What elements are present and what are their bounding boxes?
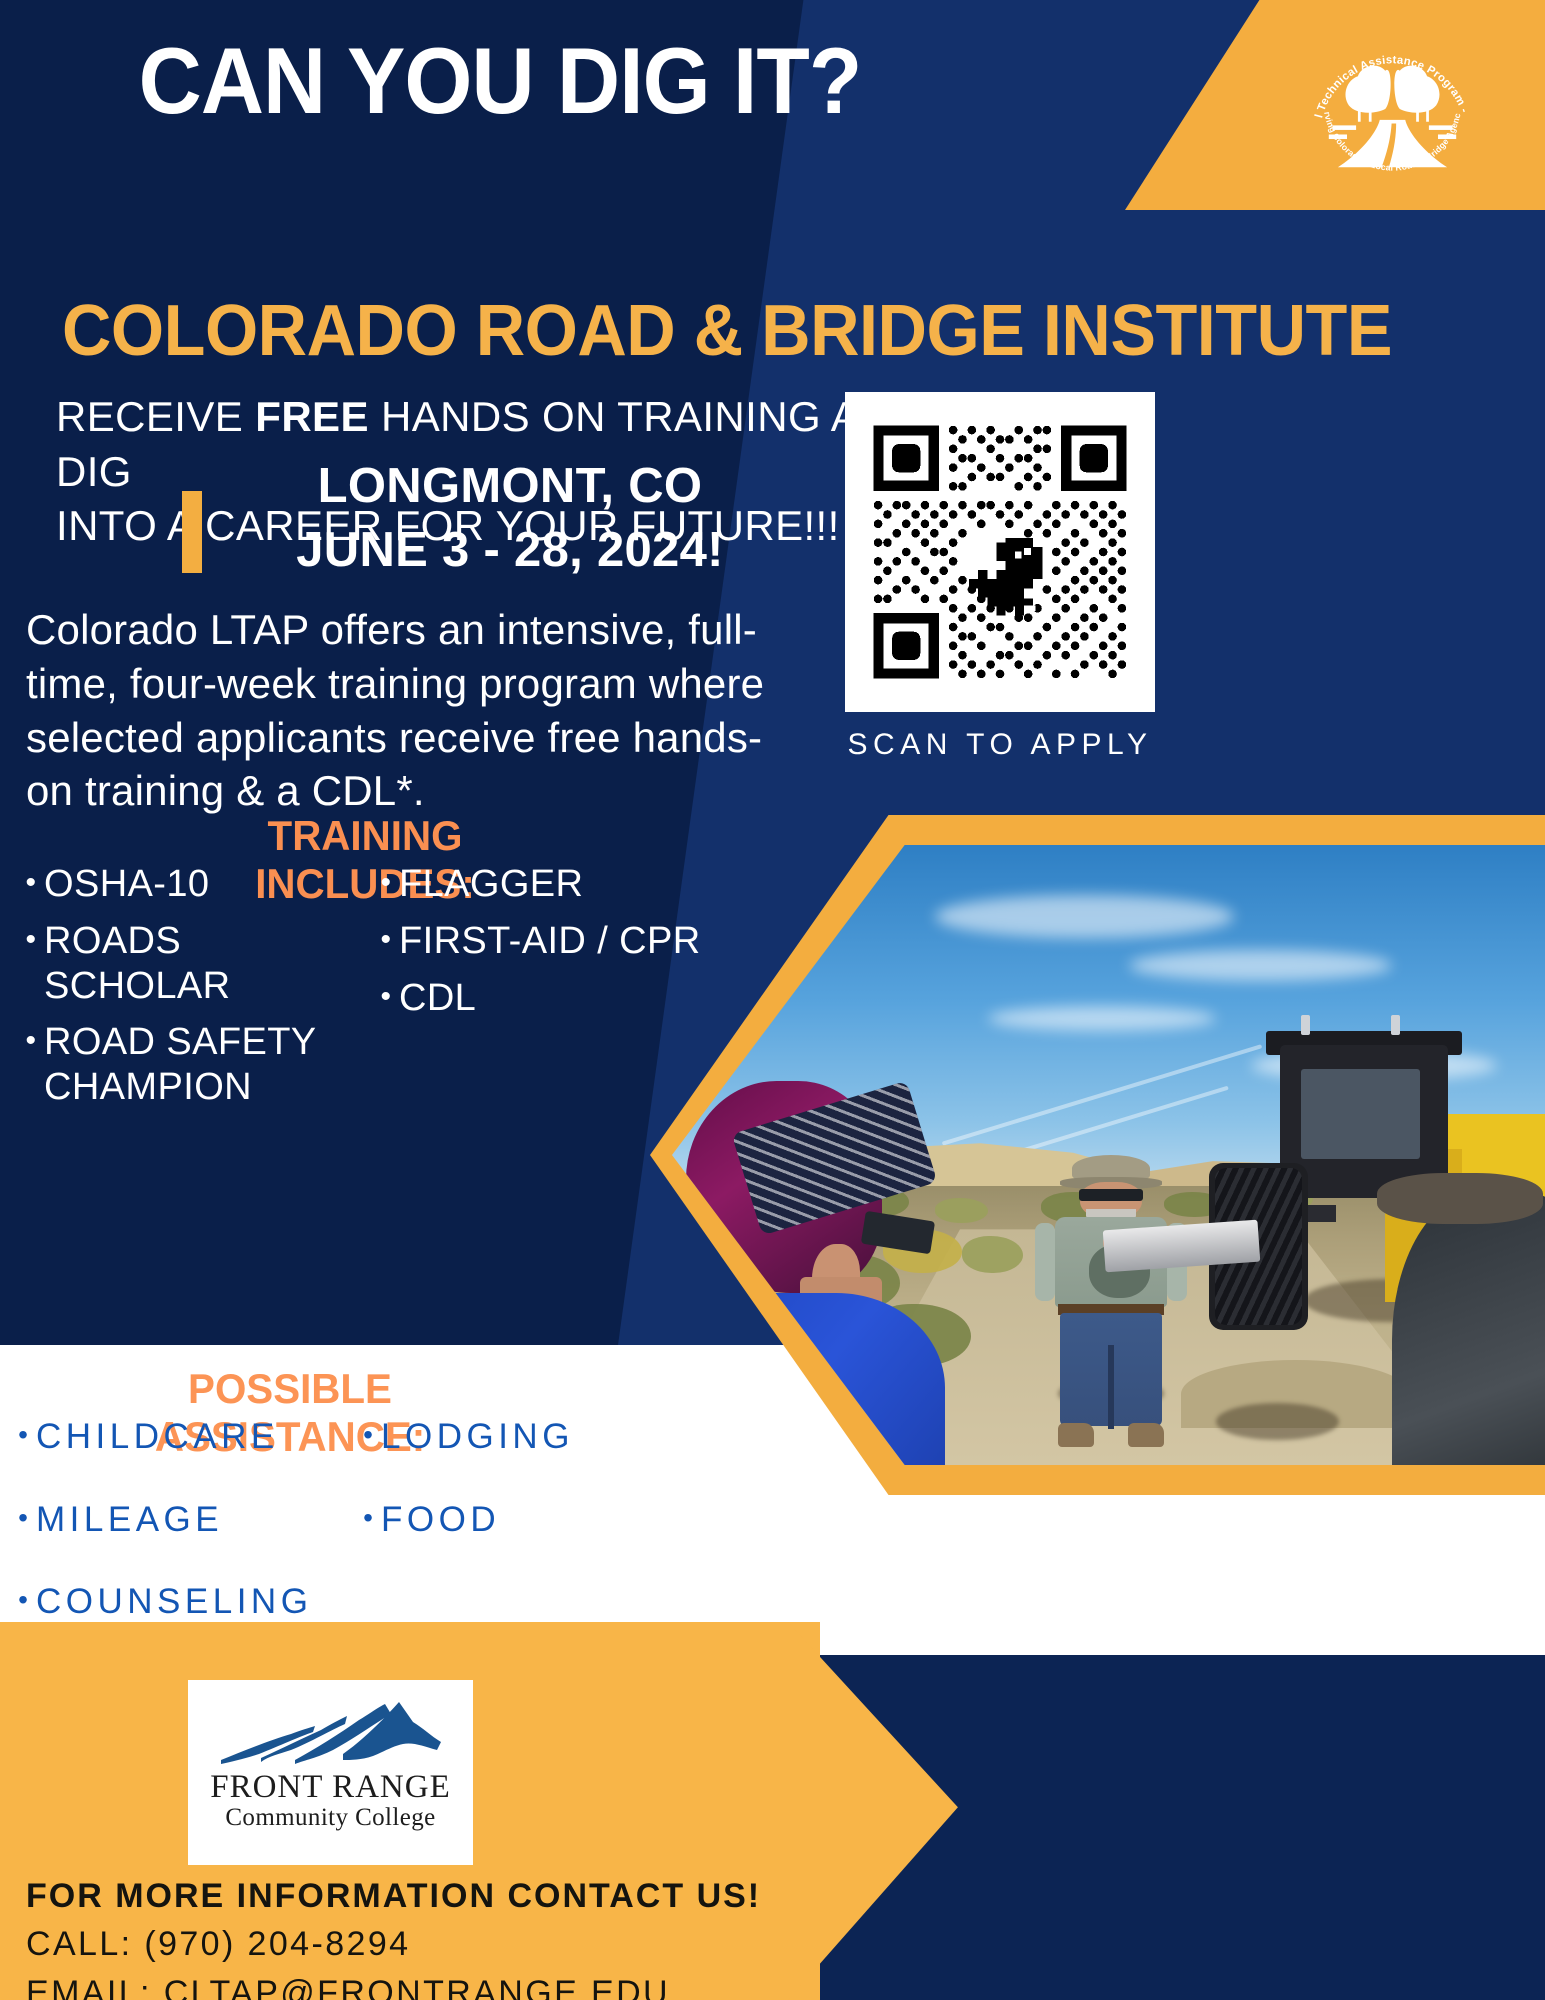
beacon-light	[1391, 1015, 1400, 1035]
bullet-icon: •	[10, 1418, 36, 1452]
possible-assistance-list: • CHILDCARE • MILEAGE • COUNSELING • LOD…	[10, 1418, 660, 1666]
list-item-label: FOOD	[381, 1501, 500, 1540]
list-item-label: ROADS SCHOLAR	[44, 919, 373, 1009]
event-location: LONGMONT, CO	[230, 455, 790, 519]
front-range-community-college-logo: Front Range Community College	[188, 1680, 473, 1865]
beacon-light	[1301, 1015, 1310, 1035]
page-title: CAN YOU DIG IT?	[35, 34, 965, 128]
bullet-icon: •	[10, 1501, 36, 1535]
bullet-icon: •	[18, 919, 44, 960]
instructor-person	[1041, 1155, 1181, 1453]
scrub-bush	[962, 1236, 1023, 1273]
mountain-range-icon	[217, 1694, 445, 1770]
tagline-bold-free: FREE	[255, 393, 369, 440]
accent-bar	[182, 491, 202, 573]
list-item: • LODGING	[355, 1418, 655, 1457]
hexagon-photo-frame	[650, 815, 1545, 1495]
list-item: • MILEAGE	[10, 1501, 355, 1540]
sunglasses-icon	[1079, 1189, 1144, 1201]
list-item: • COUNSELING	[10, 1583, 355, 1622]
bullet-icon: •	[373, 862, 399, 903]
list-item: • CHILDCARE	[10, 1418, 355, 1457]
list-item-label: LODGING	[381, 1418, 574, 1457]
cab-window	[1301, 1069, 1420, 1159]
ltap-seal-logo: Local Technical Assistance Program - LTA…	[1290, 18, 1495, 200]
cloud	[935, 895, 1234, 938]
bullet-icon: •	[373, 976, 399, 1017]
qr-code[interactable]	[845, 392, 1155, 712]
hat-brim	[1377, 1173, 1543, 1225]
training-includes-list: • OSHA-10 • ROADS SCHOLAR • ROAD SAFETY …	[18, 862, 718, 1122]
scan-to-apply-label: SCAN TO APPLY	[815, 728, 1185, 762]
bullet-icon: •	[10, 1583, 36, 1617]
bullet-icon: •	[373, 919, 399, 960]
program-description: Colorado LTAP offers an intensive, full-…	[26, 603, 786, 818]
list-item: • OSHA-10	[18, 862, 373, 907]
shadow	[1216, 1403, 1339, 1440]
leg-gap	[1108, 1345, 1114, 1428]
contact-email[interactable]: EMAIL: CLTAP@FRONTRANGE.EDU	[26, 1969, 826, 2000]
program-subtitle: COLORADO ROAD & BRIDGE INSTITUTE	[62, 290, 1126, 372]
event-dates: JUNE 3 - 28, 2024!	[230, 519, 790, 583]
bullet-icon: •	[355, 1501, 381, 1535]
frcc-name-line2: Community College	[225, 1804, 435, 1832]
frcc-name-line1: Front Range	[210, 1770, 451, 1804]
list-item-label: CHILDCARE	[36, 1418, 279, 1457]
cloud	[988, 1006, 1216, 1031]
contact-block: FOR MORE INFORMATION CONTACT US! CALL: (…	[26, 1872, 826, 2000]
arm-left	[1035, 1223, 1055, 1300]
bullet-icon: •	[18, 862, 44, 903]
bullet-icon: •	[355, 1418, 381, 1452]
bullet-icon: •	[18, 1020, 44, 1061]
event-details: LONGMONT, CO JUNE 3 - 28, 2024!	[230, 455, 790, 582]
list-item-label: MILEAGE	[36, 1501, 223, 1540]
boot-left	[1058, 1423, 1095, 1447]
list-item-label: ROAD SAFETY CHAMPION	[44, 1020, 373, 1110]
list-item: • FOOD	[355, 1501, 655, 1540]
foreground-person-left	[672, 1081, 971, 1465]
tagline-pre: RECEIVE	[56, 393, 255, 440]
contact-phone[interactable]: CALL: (970) 204-8294	[26, 1920, 826, 1968]
list-item-label: COUNSELING	[36, 1583, 312, 1622]
list-item: • ROADS SCHOLAR	[18, 919, 373, 1009]
flyer-poster: Local Technical Assistance Program - LTA…	[0, 0, 1545, 2000]
list-item: • ROAD SAFETY CHAMPION	[18, 1020, 373, 1110]
list-item-label: OSHA-10	[44, 862, 373, 907]
contact-heading: FOR MORE INFORMATION CONTACT US!	[26, 1872, 826, 1920]
boot-right	[1128, 1423, 1165, 1447]
